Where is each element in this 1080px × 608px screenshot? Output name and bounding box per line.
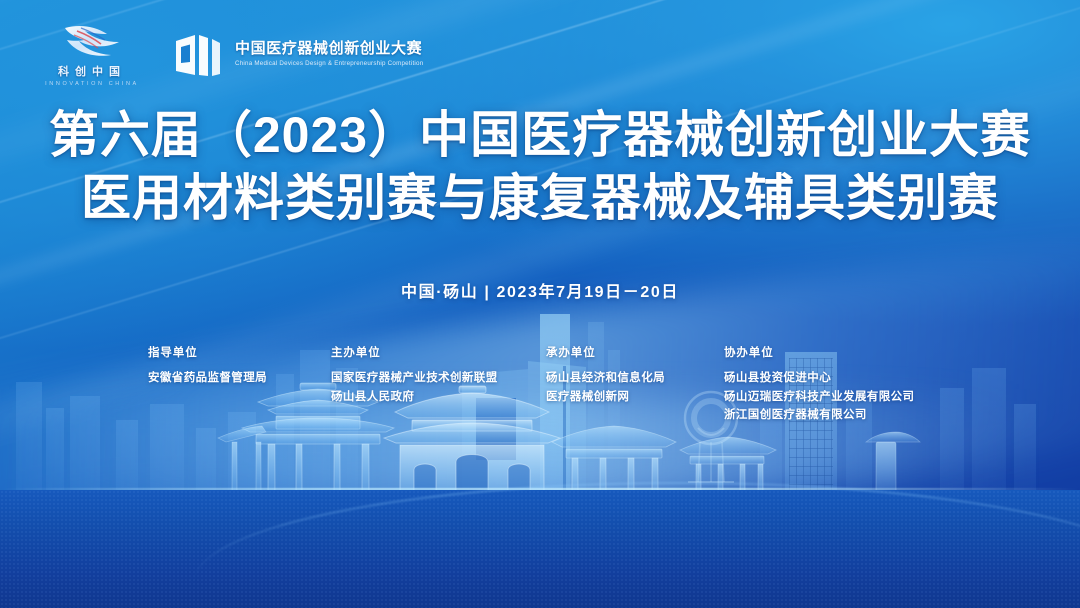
building-silhouette [16,382,42,500]
diagonal-light-streaks [0,0,1080,608]
pagoda-roof-silhouette [552,426,676,500]
event-location-date: 中国·砀山 | 2023年7月19日－20日 [0,278,1080,302]
organizer-column-coorganizer: 协办单位 砀山县投资促进中心 砀山迈瑞医疗科技产业发展有限公司 浙江国创医疗器械… [724,344,978,425]
organizer-columns: 指导单位 安徽省药品监督管理局 主办单位 国家医疗器械产业技术创新联盟 砀山县人… [148,344,978,425]
organizer-heading: 协办单位 [724,344,978,360]
organizer-column-undertaker: 承办单位 砀山县经济和信息化局 医疗器械创新网 [546,344,724,425]
innovation-china-cn-label: 科创中国 [58,63,126,79]
organizer-name: 砀山县经济和信息化局 [546,369,724,388]
organizer-name: 砀山县投资促进中心 [724,369,978,388]
organizer-name: 砀山迈瑞医疗科技产业发展有限公司 [724,388,978,407]
innovation-china-en-label: INNOVATION CHINA [45,81,139,87]
organizer-column-guidance: 指导单位 安徽省药品监督管理局 [148,344,331,425]
organizer-heading: 主办单位 [331,344,546,360]
organizer-name: 国家医疗器械产业技术创新联盟 [331,369,546,388]
organizer-heading: 指导单位 [148,344,331,360]
event-poster: 科创中国 INNOVATION CHINA 中国医疗器械创新创业大赛 China… [0,0,1080,608]
horizon-line [0,488,1080,490]
header-logo-row: 科创中国 INNOVATION CHINA 中国医疗器械创新创业大赛 China… [44,22,423,87]
open-door-logo-icon [174,32,222,78]
competition-en-title: China Medical Devices Design & Entrepren… [235,61,423,68]
organizer-name: 安徽省药品监督管理局 [148,369,331,388]
organizer-name: 医疗器械创新网 [546,388,724,407]
organizer-name: 砀山县人民政府 [331,388,546,407]
building-silhouette [46,408,64,500]
innovation-china-logo: 科创中国 INNOVATION CHINA [44,22,140,87]
title-line-2: 医用材料类别赛与康复器械及辅具类别赛 [0,167,1080,230]
organizer-column-host: 主办单位 国家医疗器械产业技术创新联盟 砀山县人民政府 [331,344,546,425]
competition-cn-title: 中国医疗器械创新创业大赛 [235,41,423,58]
poster-background [0,0,1080,608]
building-silhouette [196,428,216,500]
organizer-name: 浙江国创医疗器械有限公司 [724,406,978,425]
building-silhouette [70,396,100,500]
ground-arc-line [194,482,1080,602]
ornate-pillar-silhouette [866,432,920,500]
dove-bird-mark-icon [61,22,123,58]
title-line-1: 第六届（2023）中国医疗器械创新创业大赛 [0,104,1080,167]
poster-title-block: 第六届（2023）中国医疗器械创新创业大赛 医用材料类别赛与康复器械及辅具类别赛 [0,104,1080,230]
organizer-heading: 承办单位 [546,344,724,360]
ground-plane [0,490,1080,608]
building-silhouette [116,420,138,500]
building-silhouette [228,412,256,500]
building-silhouette [1014,404,1036,500]
pagoda-roof-silhouette [680,437,776,500]
pagoda-roof-silhouette [218,426,266,500]
competition-logo: 中国医疗器械创新创业大赛 China Medical Devices Desig… [174,32,423,78]
